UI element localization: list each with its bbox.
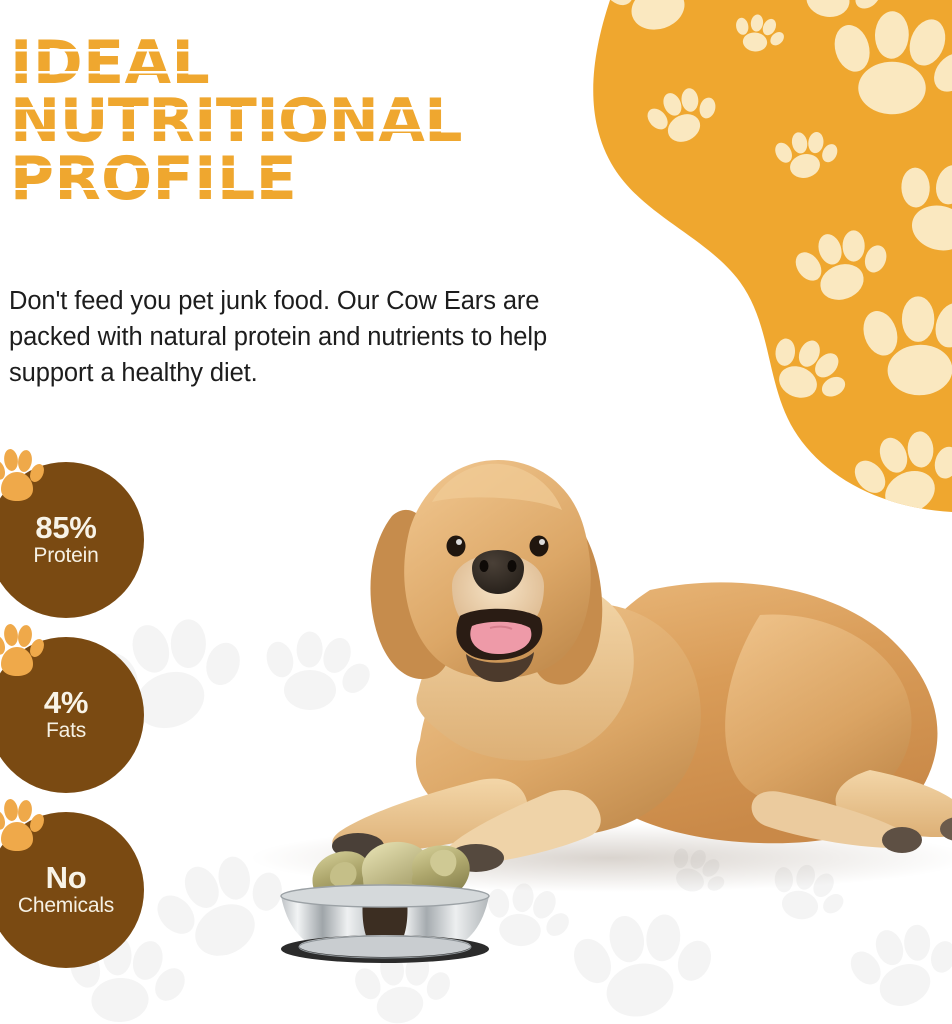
badge-protein-label: Protein <box>33 544 98 568</box>
badge-protein-value: 85% <box>35 512 96 544</box>
page-title: IDEAL NUTRITIONAL PROFILE <box>10 34 570 209</box>
dog-eye-right <box>530 536 549 557</box>
bowl-and-treats-svg <box>255 830 515 965</box>
headline-line-3: PROFILE <box>10 150 297 208</box>
paw-print-icon <box>0 448 44 504</box>
dog-nostril-left <box>480 560 489 572</box>
dog-hind-paw-2 <box>882 827 922 853</box>
dog-eye-right-glint <box>539 539 545 545</box>
badge-fats[interactable]: 4% Fats <box>0 637 144 793</box>
dog-eye-left-glint <box>456 539 462 545</box>
badge-chemicals[interactable]: No Chemicals <box>0 812 144 968</box>
paw-print-icon <box>0 623 44 679</box>
dog-eye-left <box>447 536 466 557</box>
body-paragraph: Don't feed you pet junk food. Our Cow Ea… <box>9 283 594 392</box>
decorative-orange-blob <box>580 0 952 512</box>
headline-line-1: IDEAL <box>10 34 210 92</box>
orange-blob-svg <box>580 0 952 512</box>
headline-line-2: NUTRITIONAL <box>10 92 462 150</box>
badge-chemicals-label: Chemicals <box>18 894 114 918</box>
badge-chemicals-value: No <box>46 862 87 894</box>
poster-canvas: IDEAL NUTRITIONAL PROFILE Don't feed you… <box>0 0 952 1024</box>
paw-print-icon <box>0 798 44 854</box>
badge-fats-label: Fats <box>46 719 86 743</box>
bowl-base-metal <box>299 935 471 957</box>
badge-fats-value: 4% <box>44 687 88 719</box>
dog-bowl-photo <box>255 830 515 965</box>
dog-nostril-right <box>508 560 517 572</box>
badge-protein[interactable]: 85% Protein <box>0 462 144 618</box>
